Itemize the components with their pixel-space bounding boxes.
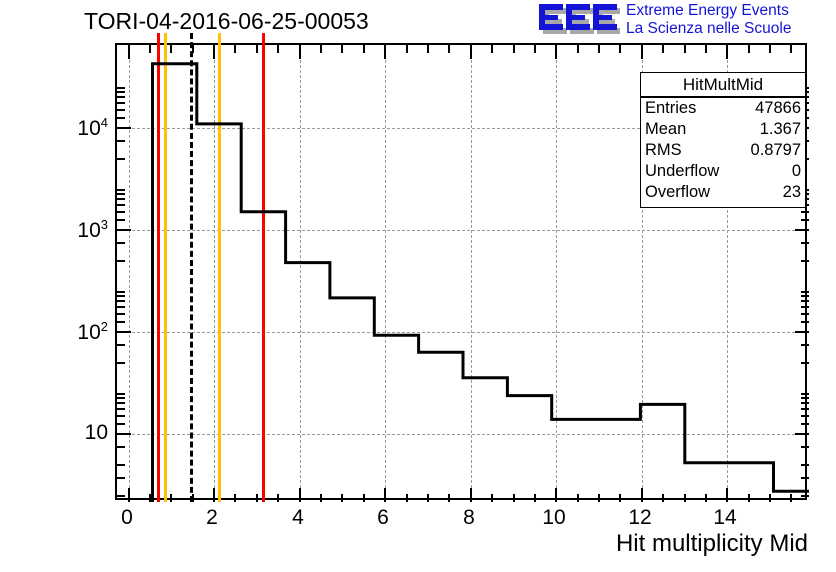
stats-row-underflow: Underflow 0 <box>641 161 805 182</box>
stats-value-rms: 0.8797 <box>751 140 801 161</box>
stats-box: HitMultMid Entries 47866 Mean 1.367 RMS … <box>640 72 806 208</box>
x-axis-title: Hit multiplicity Mid <box>616 530 808 558</box>
stats-value-underflow: 0 <box>792 161 801 182</box>
x-tick-label-10: 10 <box>534 506 574 530</box>
x-tick-label-0: 0 <box>107 506 147 530</box>
stats-title: HitMultMid <box>641 73 805 98</box>
page-title: TORI-04-2016-06-25-00053 <box>84 8 369 35</box>
eee-logo-text: Extreme Energy Events La Scienza nelle S… <box>626 2 791 38</box>
stats-value-mean: 1.367 <box>760 119 801 140</box>
stats-key-entries: Entries <box>645 98 696 119</box>
stats-row-entries: Entries 47866 <box>641 98 805 119</box>
stats-key-overflow: Overflow <box>645 182 710 203</box>
y-tick-label-1e4: 104 <box>40 115 108 141</box>
x-tick-label-14: 14 <box>705 506 745 530</box>
y-tick-label-1e3: 103 <box>40 217 108 243</box>
stats-value-entries: 47866 <box>755 98 801 119</box>
y-tick-label-10: 10 <box>40 421 108 445</box>
stats-row-rms: RMS 0.8797 <box>641 140 805 161</box>
x-tick-label-6: 6 <box>363 506 403 530</box>
logo-line-2: La Scienza nelle Scuole <box>626 20 791 38</box>
root-canvas: TORI-04-2016-06-25-00053 <box>0 0 836 572</box>
stats-row-overflow: Overflow 23 <box>641 182 805 203</box>
stats-key-mean: Mean <box>645 119 686 140</box>
eee-logo: Extreme Energy Events La Scienza nelle S… <box>538 2 834 40</box>
logo-line-1: Extreme Energy Events <box>626 2 791 20</box>
eee-logo-mark-icon <box>538 3 620 37</box>
x-tick-label-12: 12 <box>620 506 660 530</box>
stats-row-mean: Mean 1.367 <box>641 119 805 140</box>
stats-value-overflow: 23 <box>783 182 801 203</box>
y-tick-label-1e2: 102 <box>40 319 108 345</box>
x-tick-label-8: 8 <box>449 506 489 530</box>
stats-key-rms: RMS <box>645 140 682 161</box>
stats-key-underflow: Underflow <box>645 161 719 182</box>
x-tick-label-2: 2 <box>192 506 232 530</box>
x-tick-label-4: 4 <box>278 506 318 530</box>
